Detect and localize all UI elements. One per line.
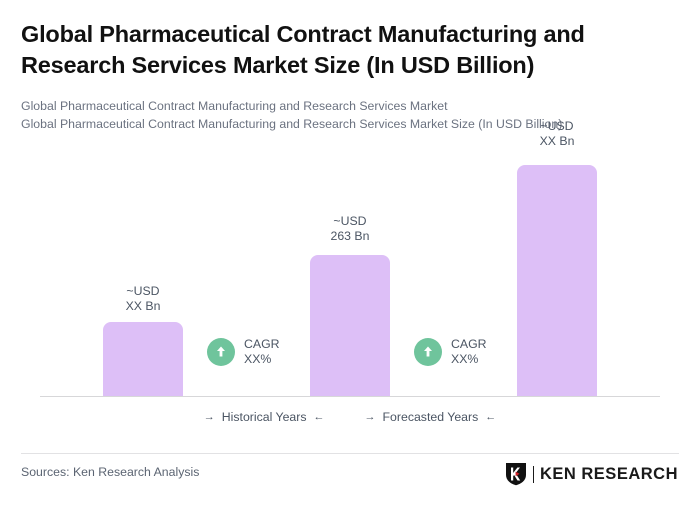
ken-shield-icon [505, 462, 527, 486]
arrow-left-icon: ← [485, 412, 496, 423]
arrow-right-icon: → [204, 412, 215, 423]
bar-chart-plot-area: ~USD XX Bn ~USD 263 Bn ~USD XX Bn CAGR X… [0, 0, 700, 400]
arrow-left-icon: ← [314, 412, 325, 423]
legend-item-forecasted-years: → Forecasted Years ← [365, 410, 497, 424]
sources-text: Sources: Ken Research Analysis [21, 465, 199, 479]
bar-2[interactable] [310, 255, 390, 396]
bar-label-2: ~USD 263 Bn [290, 214, 410, 243]
arrow-right-icon: → [365, 412, 376, 423]
cagr-annotation-1[interactable]: CAGR XX% [207, 337, 280, 366]
bar-label-3: ~USD XX Bn [497, 119, 617, 148]
legend-label-forecasted: Forecasted Years [383, 410, 479, 424]
cagr-label-1: CAGR XX% [244, 337, 280, 366]
cagr-annotation-2[interactable]: CAGR XX% [414, 337, 487, 366]
ken-research-logo: KEN RESEARCH [505, 462, 678, 486]
bar-3[interactable] [517, 165, 597, 396]
arrow-up-icon [207, 338, 235, 366]
bar-label-1: ~USD XX Bn [83, 284, 203, 313]
chart-baseline [40, 396, 660, 397]
footer-divider [21, 453, 679, 454]
legend-label-historical: Historical Years [222, 410, 307, 424]
legend-item-historical-years: → Historical Years ← [204, 410, 325, 424]
brand-wordmark: KEN RESEARCH [540, 465, 678, 484]
cagr-label-2: CAGR XX% [451, 337, 487, 366]
arrow-up-icon [414, 338, 442, 366]
bar-1[interactable] [103, 322, 183, 396]
chart-legend: → Historical Years ← → Forecasted Years … [0, 410, 700, 424]
logo-divider [533, 466, 534, 483]
